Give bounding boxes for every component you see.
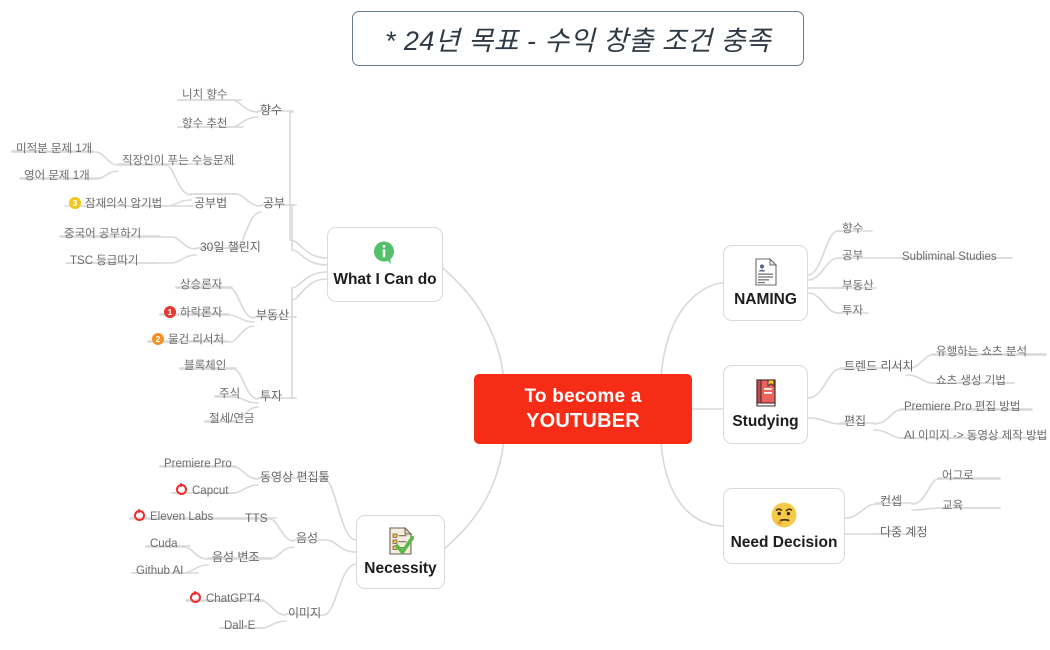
branch-node-studying[interactable]: Studying xyxy=(723,365,808,444)
topic-github-ai[interactable]: Github AI xyxy=(134,564,185,578)
topic-tax-saving-pension[interactable]: 절세/연금 xyxy=(207,412,257,426)
topic-trending-shorts-analysis[interactable]: 유행하는 쇼츠 분석 xyxy=(934,345,1029,359)
red-ring-icon xyxy=(134,510,145,521)
topic-subconscious-memorization[interactable]: 3잠재의식 암기법 xyxy=(67,197,164,211)
thinking-face-icon xyxy=(770,501,798,529)
topic-subconscious-memorization-label: 잠재의식 암기법 xyxy=(85,198,162,210)
topic-subliminal-studies[interactable]: Subliminal Studies xyxy=(900,250,999,264)
topic-video-editing-tools[interactable]: 동영상 편집툴 xyxy=(258,470,332,484)
info-bubble-icon xyxy=(372,240,398,266)
checklist-clipboard-icon xyxy=(387,527,414,555)
topic-tsc-grade[interactable]: TSC 등급따기 xyxy=(68,254,141,268)
central-topic-node[interactable]: To become a YOUTUBER xyxy=(474,374,692,444)
central-topic-line1: To become a xyxy=(525,386,642,408)
topic-editing[interactable]: 편집 xyxy=(842,414,868,428)
topic-capcut-label: Capcut xyxy=(192,485,228,497)
branch-label-need-decision: Need Decision xyxy=(731,534,838,552)
topic-image[interactable]: 이미지 xyxy=(286,606,323,620)
topic-capcut[interactable]: Capcut xyxy=(174,484,230,498)
topic-concept[interactable]: 컨셉 xyxy=(878,494,904,508)
topic-stocks[interactable]: 주식 xyxy=(217,387,242,401)
topic-eleven-labs[interactable]: Eleven Labs xyxy=(132,510,215,524)
topic-30day-challenge[interactable]: 30일 챌린지 xyxy=(198,240,263,254)
page-title-text: * 24년 목표 - 수익 창출 조건 충족 xyxy=(385,19,771,58)
topic-perfume[interactable]: 향수 xyxy=(258,103,284,117)
topic-naming-perfume[interactable]: 향수 xyxy=(840,222,865,236)
topic-perfume-recommendation[interactable]: 향수 추천 xyxy=(180,117,230,131)
topic-english-problem[interactable]: 영어 문제 1개 xyxy=(22,169,92,183)
branch-node-need-decision[interactable]: Need Decision xyxy=(723,488,845,564)
topic-bear-advocate-label: 하락론자 xyxy=(180,307,222,319)
topic-ai-image-to-video-method[interactable]: AI 이미지 -> 동영상 제작 방법 xyxy=(902,429,1049,443)
topic-premiere-pro-editing-method[interactable]: Premiere Pro 편집 방법 xyxy=(902,400,1022,414)
topic-naming-investment[interactable]: 투자 xyxy=(840,304,865,318)
topic-education[interactable]: 교육 xyxy=(940,499,965,513)
page-title: * 24년 목표 - 수익 창출 조건 충족 xyxy=(352,11,804,66)
red-ring-icon xyxy=(190,592,201,603)
topic-voice[interactable]: 음성 xyxy=(294,531,320,545)
topic-property-researcher[interactable]: 2물건 리서처 xyxy=(150,333,226,347)
branch-node-necessity[interactable]: Necessity xyxy=(356,515,445,589)
topic-study[interactable]: 공부 xyxy=(261,196,287,210)
topic-cuda[interactable]: Cuda xyxy=(148,537,180,551)
topic-worker-exam-problems[interactable]: 직장인이 푸는 수능문제 xyxy=(120,154,236,168)
topic-blockchain[interactable]: 블록체인 xyxy=(182,359,228,373)
topic-voice-modulation[interactable]: 음성 변조 xyxy=(210,550,262,564)
badge-1: 1 xyxy=(164,306,176,318)
topic-real-estate[interactable]: 부동산 xyxy=(254,308,291,322)
topic-calculus-problem[interactable]: 미적분 문제 1개 xyxy=(14,142,94,156)
branch-label-studying: Studying xyxy=(732,413,798,431)
branch-label-naming: NAMING xyxy=(734,291,797,309)
topic-eleven-labs-label: Eleven Labs xyxy=(150,511,213,523)
topic-naming-real-estate[interactable]: 부동산 xyxy=(840,279,876,293)
topic-study-chinese[interactable]: 중국어 공부하기 xyxy=(62,227,143,241)
topic-investment[interactable]: 투자 xyxy=(258,389,284,403)
topic-naming-study[interactable]: 공부 xyxy=(840,249,865,263)
topic-bull-advocate[interactable]: 상승론자 xyxy=(178,278,224,292)
topic-chatgpt4-label: ChatGPT4 xyxy=(206,593,260,605)
branch-node-what-i-can-do[interactable]: What I Can do xyxy=(327,227,443,302)
mindmap-canvas: * 24년 목표 - 수익 창출 조건 충족 To become a YOUTU… xyxy=(0,0,1050,650)
topic-property-researcher-label: 물건 리서처 xyxy=(168,334,224,346)
topic-bear-advocate[interactable]: 1하락론자 xyxy=(162,306,224,320)
red-book-icon xyxy=(753,378,779,408)
topic-tts[interactable]: TTS xyxy=(243,511,270,525)
central-topic-line2: YOUTUBER xyxy=(526,410,640,433)
branch-node-naming[interactable]: NAMING xyxy=(723,245,808,321)
badge-2: 2 xyxy=(152,333,164,345)
topic-study-method[interactable]: 공부법 xyxy=(192,196,229,210)
connector-lines xyxy=(0,0,1050,650)
topic-chatgpt4[interactable]: ChatGPT4 xyxy=(188,592,262,606)
topic-shorts-creation-technique[interactable]: 쇼츠 생성 기법 xyxy=(934,374,1008,388)
branch-label-what-i-can-do: What I Can do xyxy=(333,271,436,289)
topic-dall-e[interactable]: Dall-E xyxy=(222,619,257,633)
topic-trend-research[interactable]: 트렌드 리서치 xyxy=(842,359,916,373)
branch-label-necessity: Necessity xyxy=(364,560,436,578)
document-person-icon xyxy=(754,258,778,286)
red-ring-icon xyxy=(176,484,187,495)
badge-3: 3 xyxy=(69,197,81,209)
topic-multiple-accounts[interactable]: 다중 계정 xyxy=(878,525,930,539)
topic-premiere-pro[interactable]: Premiere Pro xyxy=(162,457,234,471)
topic-niche-perfume[interactable]: 니치 향수 xyxy=(180,88,230,102)
topic-clickbait[interactable]: 어그로 xyxy=(940,469,976,483)
